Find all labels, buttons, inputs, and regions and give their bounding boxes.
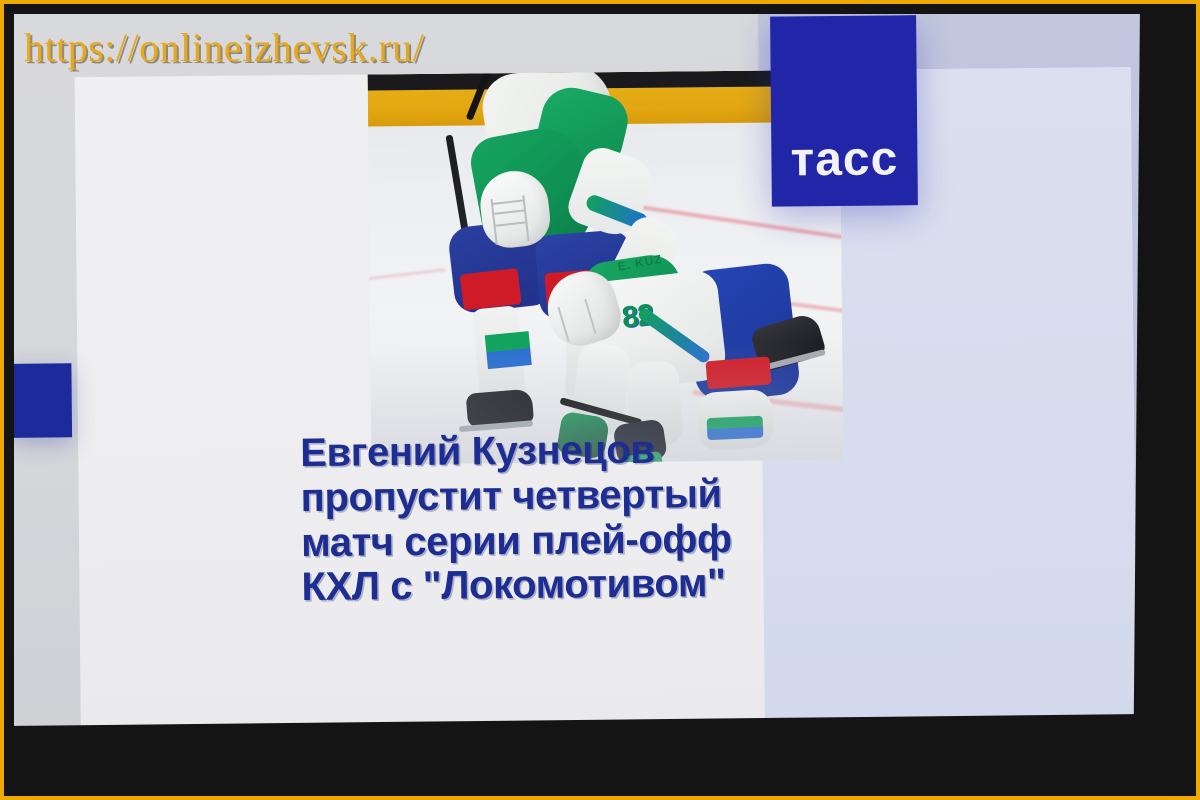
helmet-cage	[491, 195, 530, 245]
blue-accent-square	[11, 363, 72, 438]
matte-edge-right	[1133, 4, 1196, 796]
headline: Евгений Кузнецов пропустит четвертый мат…	[300, 426, 862, 611]
outer-gold-frame: E. KUZ 82 Евгений К	[0, 0, 1200, 800]
news-card: E. KUZ 82 Евгений К	[75, 67, 1137, 739]
matte-edge-left	[4, 4, 14, 796]
site-watermark: https://onlineizhevsk.ru/	[24, 24, 424, 71]
sponsor-patch	[460, 268, 522, 310]
black-matte: E. KUZ 82 Евгений К	[4, 4, 1196, 796]
tass-logo-text: тасс	[790, 135, 898, 184]
headline-line-4: КХЛ с "Локомотивом"	[301, 560, 861, 610]
headline-line-1: Евгений Кузнецов	[300, 426, 860, 476]
matte-edge-bottom	[4, 714, 1196, 796]
news-card-stage: E. KUZ 82 Евгений К	[4, 4, 1151, 752]
headline-line-3: матч серии плей-офф	[301, 515, 861, 565]
tass-logo-plate: тасс	[770, 15, 918, 206]
headline-line-2: пропустит четвертый	[300, 471, 860, 521]
matte-edge-top	[4, 4, 1196, 14]
